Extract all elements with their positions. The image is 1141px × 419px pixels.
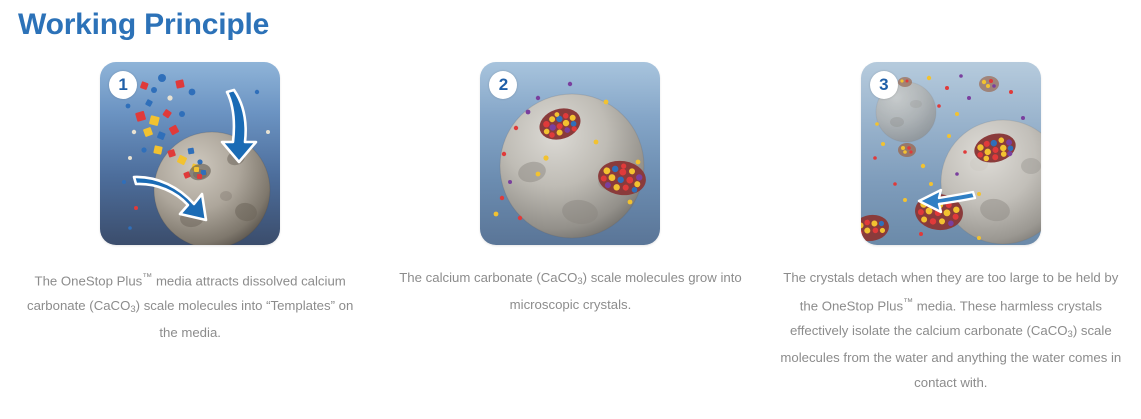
step-caption-1: The OneStop Plus™ media attracts dissolv… (18, 265, 363, 345)
page-title: Working Principle (18, 8, 269, 42)
step-column-2: 2 (380, 62, 760, 395)
step-caption-3: The crystals detach when they are too la… (778, 265, 1123, 395)
step-panel-1: 1 (100, 62, 280, 245)
step-caption-2: The calcium carbonate (CaCO3) scale mole… (398, 265, 743, 317)
step-column-3: 3 (761, 62, 1141, 395)
caco3-subscript: 3 (130, 304, 135, 315)
caption-1-part-a: The OneStop Plus (35, 273, 143, 288)
steps-row: 1 (0, 62, 1141, 395)
step-panel-3: 3 (861, 62, 1041, 245)
step-column-1: 1 (0, 62, 380, 395)
trademark-symbol: ™ (903, 297, 913, 308)
step-badge-1: 1 (109, 71, 137, 99)
caco3-subscript: 3 (1068, 329, 1073, 340)
step-badge-3: 3 (870, 71, 898, 99)
step-panel-2: 2 (480, 62, 660, 245)
caption-2-part-a: The calcium carbonate (CaCO (399, 270, 577, 285)
caption-1-part-c: ) scale molecules into “Templates” on th… (136, 298, 354, 340)
trademark-symbol: ™ (142, 272, 152, 283)
caco3-subscript: 3 (577, 276, 582, 287)
